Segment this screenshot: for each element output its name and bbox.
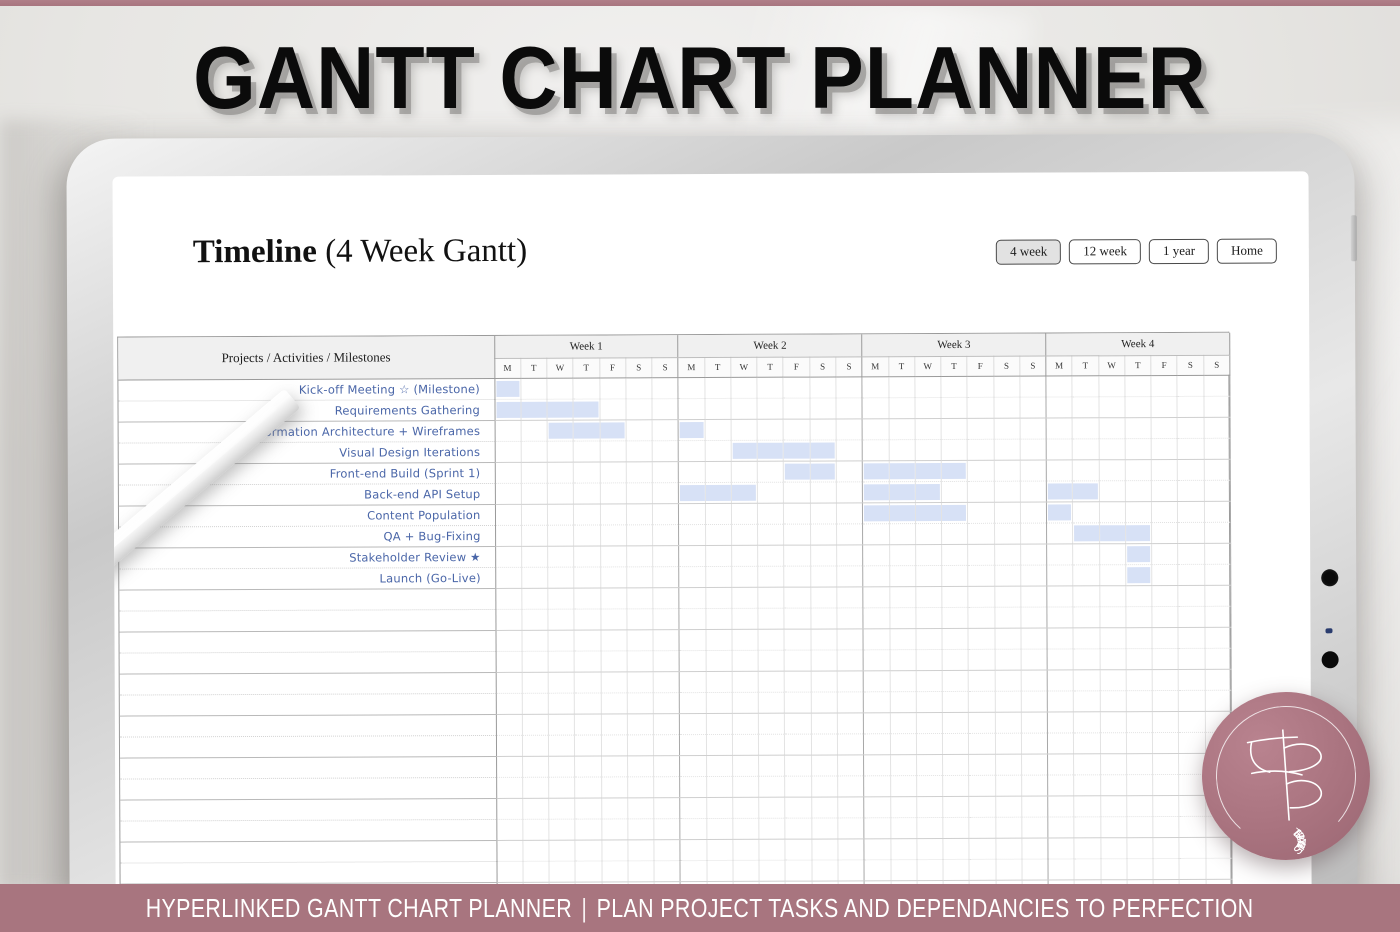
gantt-empty-cell[interactable] <box>994 397 1020 418</box>
gantt-empty-cell[interactable] <box>916 628 942 649</box>
gantt-empty-cell[interactable] <box>628 818 654 839</box>
gantt-empty-cell[interactable] <box>653 629 679 650</box>
gantt-empty-cell[interactable] <box>654 797 680 818</box>
nav-button-1-year[interactable]: 1 year <box>1149 239 1209 265</box>
gantt-empty-cell[interactable] <box>706 671 732 692</box>
gantt-empty-cell[interactable] <box>995 817 1021 838</box>
gantt-empty-cell[interactable] <box>707 860 733 881</box>
gantt-empty-cell[interactable] <box>653 608 679 629</box>
gantt-empty-cell[interactable] <box>628 860 654 881</box>
gantt-empty-cell[interactable] <box>574 566 600 587</box>
gantt-empty-cell[interactable] <box>785 650 811 671</box>
gantt-empty-cell[interactable] <box>548 735 574 756</box>
task-label[interactable]: QA + Bug-Fixing <box>119 525 495 548</box>
gantt-empty-cell[interactable] <box>1153 837 1179 858</box>
gantt-empty-cell[interactable] <box>1153 774 1179 795</box>
gantt-empty-cell[interactable] <box>679 503 705 524</box>
gantt-empty-cell[interactable] <box>1099 480 1125 501</box>
gantt-empty-cell[interactable] <box>784 566 810 587</box>
gantt-empty-cell[interactable] <box>496 798 522 819</box>
gantt-empty-cell[interactable] <box>1022 796 1048 817</box>
gantt-empty-cell[interactable] <box>495 441 521 462</box>
gantt-empty-cell[interactable] <box>784 587 810 608</box>
gantt-empty-cell[interactable] <box>575 860 601 881</box>
gantt-empty-cell[interactable] <box>811 628 837 649</box>
gantt-empty-cell[interactable] <box>548 525 574 546</box>
gantt-empty-cell[interactable] <box>915 376 941 397</box>
gantt-empty-cell[interactable] <box>1151 417 1177 438</box>
gantt-bar-cell[interactable] <box>915 502 941 523</box>
gantt-empty-cell[interactable] <box>705 440 731 461</box>
gantt-empty-cell[interactable] <box>889 565 915 586</box>
gantt-empty-cell[interactable] <box>1046 459 1072 480</box>
gantt-empty-cell[interactable] <box>522 693 548 714</box>
gantt-empty-cell[interactable] <box>1125 501 1151 522</box>
gantt-empty-cell[interactable] <box>968 502 994 523</box>
gantt-empty-cell[interactable] <box>496 819 522 840</box>
gantt-empty-cell[interactable] <box>522 651 548 672</box>
gantt-empty-cell[interactable] <box>653 650 679 671</box>
gantt-empty-cell[interactable] <box>600 587 626 608</box>
gantt-empty-cell[interactable] <box>943 796 969 817</box>
gantt-empty-cell[interactable] <box>838 838 864 859</box>
gantt-empty-cell[interactable] <box>994 439 1020 460</box>
gantt-empty-cell[interactable] <box>679 545 705 566</box>
gantt-empty-cell[interactable] <box>1073 564 1099 585</box>
gantt-empty-cell[interactable] <box>626 461 652 482</box>
gantt-empty-cell[interactable] <box>863 670 889 691</box>
gantt-empty-cell[interactable] <box>549 861 575 882</box>
gantt-empty-cell[interactable] <box>942 565 968 586</box>
gantt-empty-cell[interactable] <box>837 712 863 733</box>
gantt-empty-cell[interactable] <box>1204 522 1230 543</box>
gantt-empty-cell[interactable] <box>1100 795 1126 816</box>
gantt-empty-cell[interactable] <box>1021 712 1047 733</box>
gantt-empty-cell[interactable] <box>1152 543 1178 564</box>
gantt-empty-cell[interactable] <box>810 376 836 397</box>
gantt-empty-cell[interactable] <box>1100 816 1126 837</box>
gantt-empty-cell[interactable] <box>1178 543 1204 564</box>
gantt-empty-cell[interactable] <box>1179 816 1205 837</box>
gantt-empty-cell[interactable] <box>1073 501 1099 522</box>
gantt-empty-cell[interactable] <box>916 670 942 691</box>
gantt-empty-cell[interactable] <box>758 566 784 587</box>
gantt-empty-cell[interactable] <box>1048 753 1074 774</box>
gantt-empty-cell[interactable] <box>890 775 916 796</box>
gantt-empty-cell[interactable] <box>705 566 731 587</box>
gantt-empty-cell[interactable] <box>654 839 680 860</box>
gantt-empty-cell[interactable] <box>680 797 706 818</box>
gantt-empty-cell[interactable] <box>1099 375 1125 396</box>
gantt-empty-cell[interactable] <box>680 734 706 755</box>
gantt-empty-cell[interactable] <box>495 525 521 546</box>
gantt-empty-cell[interactable] <box>810 502 836 523</box>
gantt-empty-cell[interactable] <box>968 460 994 481</box>
gantt-empty-cell[interactable] <box>969 712 995 733</box>
gantt-empty-cell[interactable] <box>1100 774 1126 795</box>
gantt-empty-cell[interactable] <box>549 756 575 777</box>
gantt-empty-cell[interactable] <box>1153 711 1179 732</box>
gantt-empty-cell[interactable] <box>1072 396 1098 417</box>
gantt-empty-cell[interactable] <box>679 461 705 482</box>
gantt-empty-cell[interactable] <box>967 376 993 397</box>
gantt-empty-cell[interactable] <box>836 439 862 460</box>
gantt-empty-cell[interactable] <box>1177 396 1203 417</box>
gantt-empty-cell[interactable] <box>1152 648 1178 669</box>
gantt-empty-cell[interactable] <box>575 776 601 797</box>
gantt-empty-cell[interactable] <box>1047 690 1073 711</box>
gantt-empty-cell[interactable] <box>732 566 758 587</box>
gantt-empty-cell[interactable] <box>943 838 969 859</box>
gantt-empty-cell[interactable] <box>599 377 625 398</box>
gantt-empty-cell[interactable] <box>810 565 836 586</box>
gantt-empty-cell[interactable] <box>522 798 548 819</box>
gantt-empty-cell[interactable] <box>810 418 836 439</box>
gantt-empty-cell[interactable] <box>495 630 521 651</box>
gantt-empty-cell[interactable] <box>1152 480 1178 501</box>
gantt-empty-cell[interactable] <box>837 565 863 586</box>
gantt-empty-cell[interactable] <box>600 482 626 503</box>
gantt-empty-cell[interactable] <box>1100 669 1126 690</box>
gantt-empty-cell[interactable] <box>916 754 942 775</box>
gantt-empty-cell[interactable] <box>942 523 968 544</box>
gantt-empty-cell[interactable] <box>1046 438 1072 459</box>
gantt-empty-cell[interactable] <box>969 733 995 754</box>
gantt-empty-cell[interactable] <box>890 649 916 670</box>
gantt-empty-cell[interactable] <box>838 859 864 880</box>
gantt-empty-cell[interactable] <box>994 565 1020 586</box>
gantt-empty-cell[interactable] <box>836 418 862 439</box>
gantt-empty-cell[interactable] <box>1152 585 1178 606</box>
gantt-empty-cell[interactable] <box>969 838 995 859</box>
gantt-empty-cell[interactable] <box>995 775 1021 796</box>
gantt-empty-cell[interactable] <box>680 839 706 860</box>
gantt-empty-cell[interactable] <box>838 817 864 838</box>
gantt-empty-cell[interactable] <box>1125 396 1151 417</box>
gantt-empty-cell[interactable] <box>864 754 890 775</box>
gantt-empty-cell[interactable] <box>600 398 626 419</box>
gantt-empty-cell[interactable] <box>602 860 628 881</box>
gantt-empty-cell[interactable] <box>783 398 809 419</box>
gantt-bar-cell[interactable] <box>1047 501 1073 522</box>
gantt-bar-cell[interactable] <box>521 399 547 420</box>
gantt-empty-cell[interactable] <box>1125 375 1151 396</box>
gantt-empty-cell[interactable] <box>1048 732 1074 753</box>
gantt-empty-cell[interactable] <box>1099 438 1125 459</box>
gantt-empty-cell[interactable] <box>890 817 916 838</box>
gantt-empty-cell[interactable] <box>627 776 653 797</box>
gantt-empty-cell[interactable] <box>890 796 916 817</box>
gantt-empty-cell[interactable] <box>1178 606 1204 627</box>
task-label[interactable]: Visual Design Iterations <box>119 441 495 464</box>
gantt-empty-cell[interactable] <box>995 796 1021 817</box>
gantt-empty-cell[interactable] <box>1204 396 1230 417</box>
gantt-empty-cell[interactable] <box>1153 732 1179 753</box>
gantt-empty-cell[interactable] <box>574 629 600 650</box>
gantt-empty-cell[interactable] <box>1178 627 1204 648</box>
gantt-empty-cell[interactable] <box>1022 817 1048 838</box>
gantt-empty-cell[interactable] <box>1204 459 1230 480</box>
gantt-empty-cell[interactable] <box>601 839 627 860</box>
task-label-empty[interactable] <box>119 630 495 653</box>
gantt-empty-cell[interactable] <box>1100 732 1126 753</box>
gantt-empty-cell[interactable] <box>915 523 941 544</box>
gantt-empty-cell[interactable] <box>968 670 994 691</box>
task-label-empty[interactable] <box>120 756 496 779</box>
gantt-empty-cell[interactable] <box>680 860 706 881</box>
gantt-empty-cell[interactable] <box>706 797 732 818</box>
gantt-empty-cell[interactable] <box>864 775 890 796</box>
gantt-empty-cell[interactable] <box>916 733 942 754</box>
gantt-empty-cell[interactable] <box>1046 417 1072 438</box>
gantt-empty-cell[interactable] <box>810 397 836 418</box>
gantt-empty-cell[interactable] <box>731 419 757 440</box>
gantt-empty-cell[interactable] <box>1151 459 1177 480</box>
gantt-empty-cell[interactable] <box>1021 670 1047 691</box>
gantt-empty-cell[interactable] <box>707 839 733 860</box>
gantt-empty-cell[interactable] <box>1074 669 1100 690</box>
gantt-empty-cell[interactable] <box>785 776 811 797</box>
gantt-empty-cell[interactable] <box>548 630 574 651</box>
gantt-empty-cell[interactable] <box>706 629 732 650</box>
gantt-empty-cell[interactable] <box>1047 648 1073 669</box>
gantt-empty-cell[interactable] <box>626 503 652 524</box>
gantt-empty-cell[interactable] <box>680 671 706 692</box>
nav-button-12-week[interactable]: 12 week <box>1069 239 1141 265</box>
gantt-empty-cell[interactable] <box>1074 837 1100 858</box>
gantt-empty-cell[interactable] <box>1021 754 1047 775</box>
gantt-empty-cell[interactable] <box>548 714 574 735</box>
gantt-empty-cell[interactable] <box>838 754 864 775</box>
gantt-empty-cell[interactable] <box>626 377 652 398</box>
gantt-empty-cell[interactable] <box>942 628 968 649</box>
gantt-empty-cell[interactable] <box>785 860 811 881</box>
gantt-empty-cell[interactable] <box>575 692 601 713</box>
gantt-empty-cell[interactable] <box>573 377 599 398</box>
gantt-empty-cell[interactable] <box>627 650 653 671</box>
gantt-bar-cell[interactable] <box>731 482 757 503</box>
gantt-empty-cell[interactable] <box>783 377 809 398</box>
gantt-empty-cell[interactable] <box>968 649 994 670</box>
gantt-empty-cell[interactable] <box>1127 774 1153 795</box>
gantt-empty-cell[interactable] <box>732 755 758 776</box>
gantt-empty-cell[interactable] <box>942 691 968 712</box>
gantt-empty-cell[interactable] <box>1178 585 1204 606</box>
gantt-empty-cell[interactable] <box>1072 417 1098 438</box>
gantt-empty-cell[interactable] <box>522 714 548 735</box>
gantt-empty-cell[interactable] <box>575 797 601 818</box>
gantt-empty-cell[interactable] <box>652 461 678 482</box>
gantt-empty-cell[interactable] <box>705 524 731 545</box>
gantt-empty-cell[interactable] <box>496 672 522 693</box>
gantt-empty-cell[interactable] <box>1100 753 1126 774</box>
gantt-empty-cell[interactable] <box>864 691 890 712</box>
gantt-empty-cell[interactable] <box>995 733 1021 754</box>
gantt-empty-cell[interactable] <box>1021 691 1047 712</box>
gantt-empty-cell[interactable] <box>495 588 521 609</box>
gantt-empty-cell[interactable] <box>522 777 548 798</box>
gantt-empty-cell[interactable] <box>942 670 968 691</box>
task-label[interactable]: Requirements Gathering <box>118 399 494 422</box>
gantt-empty-cell[interactable] <box>836 397 862 418</box>
task-label-empty[interactable] <box>120 840 496 863</box>
gantt-empty-cell[interactable] <box>1205 669 1231 690</box>
gantt-empty-cell[interactable] <box>547 504 573 525</box>
gantt-empty-cell[interactable] <box>705 377 731 398</box>
gantt-empty-cell[interactable] <box>495 483 521 504</box>
gantt-empty-cell[interactable] <box>1152 606 1178 627</box>
gantt-empty-cell[interactable] <box>757 461 783 482</box>
gantt-empty-cell[interactable] <box>626 545 652 566</box>
gantt-empty-cell[interactable] <box>706 755 732 776</box>
gantt-empty-cell[interactable] <box>522 672 548 693</box>
gantt-empty-cell[interactable] <box>888 376 914 397</box>
task-label[interactable]: Launch (Go-Live) <box>119 567 495 590</box>
gantt-empty-cell[interactable] <box>548 693 574 714</box>
gantt-empty-cell[interactable] <box>942 712 968 733</box>
gantt-empty-cell[interactable] <box>652 398 678 419</box>
gantt-bar-cell[interactable] <box>678 419 704 440</box>
gantt-empty-cell[interactable] <box>1152 522 1178 543</box>
gantt-empty-cell[interactable] <box>1151 375 1177 396</box>
task-label[interactable]: Kick-off Meeting ☆ (Milestone) <box>118 378 494 401</box>
gantt-empty-cell[interactable] <box>889 523 915 544</box>
gantt-empty-cell[interactable] <box>758 671 784 692</box>
gantt-empty-cell[interactable] <box>784 608 810 629</box>
gantt-empty-cell[interactable] <box>890 670 916 691</box>
gantt-bar-cell[interactable] <box>1046 480 1072 501</box>
gantt-empty-cell[interactable] <box>680 692 706 713</box>
gantt-empty-cell[interactable] <box>838 775 864 796</box>
gantt-empty-cell[interactable] <box>968 481 994 502</box>
gantt-empty-cell[interactable] <box>1072 375 1098 396</box>
gantt-bar-cell[interactable] <box>1099 522 1125 543</box>
gantt-empty-cell[interactable] <box>1020 397 1046 418</box>
gantt-empty-cell[interactable] <box>915 544 941 565</box>
nav-button-4-week[interactable]: 4 week <box>996 239 1061 265</box>
gantt-empty-cell[interactable] <box>496 840 522 861</box>
gantt-empty-cell[interactable] <box>889 607 915 628</box>
gantt-empty-cell[interactable] <box>969 796 995 817</box>
gantt-empty-cell[interactable] <box>496 756 522 777</box>
gantt-empty-cell[interactable] <box>1074 858 1100 879</box>
gantt-empty-cell[interactable] <box>600 566 626 587</box>
gantt-empty-cell[interactable] <box>521 567 547 588</box>
gantt-empty-cell[interactable] <box>890 754 916 775</box>
gantt-empty-cell[interactable] <box>601 650 627 671</box>
gantt-empty-cell[interactable] <box>1020 418 1046 439</box>
gantt-bar-cell[interactable] <box>1126 543 1152 564</box>
gantt-empty-cell[interactable] <box>968 586 994 607</box>
gantt-empty-cell[interactable] <box>864 817 890 838</box>
gantt-empty-cell[interactable] <box>1100 606 1126 627</box>
gantt-empty-cell[interactable] <box>706 650 732 671</box>
gantt-empty-cell[interactable] <box>523 861 549 882</box>
gantt-empty-cell[interactable] <box>574 503 600 524</box>
gantt-empty-cell[interactable] <box>1126 585 1152 606</box>
gantt-empty-cell[interactable] <box>1177 375 1203 396</box>
gantt-empty-cell[interactable] <box>889 586 915 607</box>
gantt-empty-cell[interactable] <box>732 629 758 650</box>
gantt-empty-cell[interactable] <box>653 545 679 566</box>
gantt-empty-cell[interactable] <box>652 377 678 398</box>
gantt-empty-cell[interactable] <box>967 418 993 439</box>
gantt-empty-cell[interactable] <box>523 819 549 840</box>
gantt-empty-cell[interactable] <box>1020 523 1046 544</box>
gantt-empty-cell[interactable] <box>732 734 758 755</box>
gantt-empty-cell[interactable] <box>1126 627 1152 648</box>
gantt-bar-cell[interactable] <box>573 419 599 440</box>
gantt-empty-cell[interactable] <box>1125 438 1151 459</box>
gantt-empty-cell[interactable] <box>811 712 837 733</box>
gantt-empty-cell[interactable] <box>995 712 1021 733</box>
gantt-empty-cell[interactable] <box>1126 606 1152 627</box>
gantt-empty-cell[interactable] <box>759 713 785 734</box>
gantt-empty-cell[interactable] <box>967 439 993 460</box>
gantt-bar-cell[interactable] <box>941 460 967 481</box>
gantt-bar-cell[interactable] <box>784 440 810 461</box>
gantt-empty-cell[interactable] <box>1074 711 1100 732</box>
gantt-empty-cell[interactable] <box>601 671 627 692</box>
gantt-empty-cell[interactable] <box>863 628 889 649</box>
gantt-empty-cell[interactable] <box>705 398 731 419</box>
gantt-empty-cell[interactable] <box>837 586 863 607</box>
gantt-empty-cell[interactable] <box>1021 649 1047 670</box>
gantt-empty-cell[interactable] <box>574 608 600 629</box>
gantt-empty-cell[interactable] <box>1205 606 1231 627</box>
gantt-empty-cell[interactable] <box>758 503 784 524</box>
gantt-empty-cell[interactable] <box>862 418 888 439</box>
gantt-empty-cell[interactable] <box>601 692 627 713</box>
gantt-empty-cell[interactable] <box>732 671 758 692</box>
gantt-empty-cell[interactable] <box>837 544 863 565</box>
gantt-empty-cell[interactable] <box>1074 690 1100 711</box>
gantt-bar-cell[interactable] <box>863 481 889 502</box>
gantt-empty-cell[interactable] <box>1179 858 1205 879</box>
gantt-empty-cell[interactable] <box>522 756 548 777</box>
gantt-empty-cell[interactable] <box>1073 585 1099 606</box>
gantt-empty-cell[interactable] <box>941 376 967 397</box>
gantt-empty-cell[interactable] <box>548 546 574 567</box>
gantt-empty-cell[interactable] <box>864 838 890 859</box>
gantt-empty-cell[interactable] <box>549 840 575 861</box>
gantt-empty-cell[interactable] <box>733 776 759 797</box>
gantt-empty-cell[interactable] <box>941 418 967 439</box>
gantt-empty-cell[interactable] <box>705 503 731 524</box>
gantt-empty-cell[interactable] <box>626 419 652 440</box>
gantt-empty-cell[interactable] <box>1046 396 1072 417</box>
task-label-empty[interactable] <box>120 714 496 737</box>
gantt-empty-cell[interactable] <box>1126 753 1152 774</box>
gantt-empty-cell[interactable] <box>549 819 575 840</box>
gantt-empty-cell[interactable] <box>1204 501 1230 522</box>
gantt-empty-cell[interactable] <box>575 734 601 755</box>
gantt-empty-cell[interactable] <box>732 545 758 566</box>
gantt-empty-cell[interactable] <box>862 397 888 418</box>
gantt-empty-cell[interactable] <box>758 692 784 713</box>
gantt-empty-cell[interactable] <box>1047 522 1073 543</box>
gantt-empty-cell[interactable] <box>574 545 600 566</box>
gantt-empty-cell[interactable] <box>548 567 574 588</box>
gantt-empty-cell[interactable] <box>627 755 653 776</box>
gantt-empty-cell[interactable] <box>811 649 837 670</box>
gantt-empty-cell[interactable] <box>679 566 705 587</box>
gantt-empty-cell[interactable] <box>1127 816 1153 837</box>
gantt-empty-cell[interactable] <box>863 586 889 607</box>
gantt-empty-cell[interactable] <box>705 545 731 566</box>
gantt-empty-cell[interactable] <box>706 713 732 734</box>
gantt-empty-cell[interactable] <box>1204 375 1230 396</box>
